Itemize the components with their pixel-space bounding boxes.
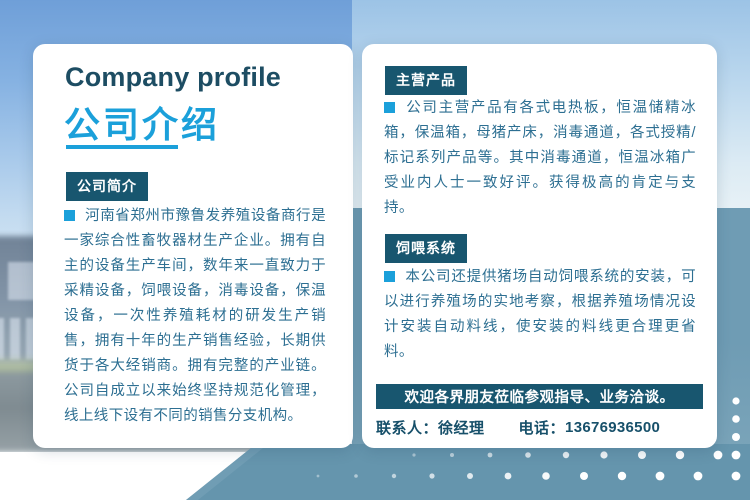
main-products-text: 公司主营产品有各式电热板，恒温储精冰箱，保温箱，母猪产床，消毒通道，各式授精/标… — [384, 100, 696, 216]
bullet-square-icon — [384, 271, 395, 282]
welcome-banner: 欢迎各界朋友莅临参观指导、业务洽谈。 — [376, 384, 703, 409]
feeding-system-text: 本公司还提供猪场自动饲喂系统的安装，可以进行养殖场的实地考察，根据养殖场情况设计… — [384, 269, 696, 360]
company-intro-text: 河南省郑州市豫鲁发养殖设备商行是一家综合性畜牧器材生产企业。拥有自主的设备生产车… — [64, 208, 326, 424]
page-title-english: Company profile — [65, 62, 281, 93]
contact-phone-value: 13676936500 — [565, 419, 660, 436]
page-title-chinese: 公司介绍 — [64, 96, 220, 148]
products-and-contact-card: 主营产品 公司主营产品有各式电热板，恒温储精冰箱，保温箱，母猪产床，消毒通道，各… — [362, 44, 717, 448]
poster-canvas: Company profile 公司介绍 公司简介 河南省郑州市豫鲁发养殖设备商… — [0, 0, 750, 500]
section-badge-company-intro: 公司简介 — [66, 172, 148, 201]
section-badge-feeding-system: 饲喂系统 — [385, 234, 467, 263]
company-profile-card: Company profile 公司介绍 公司简介 河南省郑州市豫鲁发养殖设备商… — [33, 44, 353, 448]
building-window — [0, 318, 4, 360]
contact-phone-label: 电话： — [519, 417, 566, 438]
feeding-system-paragraph: 本公司还提供猪场自动饲喂系统的安装，可以进行养殖场的实地考察，根据养殖场情况设计… — [384, 265, 696, 365]
contact-row: 联系人： 徐经理 电话： 13676936500 — [376, 415, 703, 439]
contact-person-value: 徐经理 — [438, 417, 485, 438]
decorative-dot-grid — [0, 440, 750, 500]
building-window — [10, 318, 20, 360]
main-products-paragraph: 公司主营产品有各式电热板，恒温储精冰箱，保温箱，母猪产床，消毒通道，各式授精/标… — [384, 96, 696, 221]
section-badge-main-products: 主营产品 — [385, 66, 467, 95]
bullet-square-icon — [384, 102, 395, 113]
contact-person-label: 联系人： — [376, 417, 438, 438]
title-underline-rule — [66, 145, 178, 149]
right-edge-dot-column — [722, 395, 750, 455]
company-intro-paragraph: 河南省郑州市豫鲁发养殖设备商行是一家综合性畜牧器材生产企业。拥有自主的设备生产车… — [64, 204, 326, 429]
bullet-square-icon — [64, 210, 75, 221]
